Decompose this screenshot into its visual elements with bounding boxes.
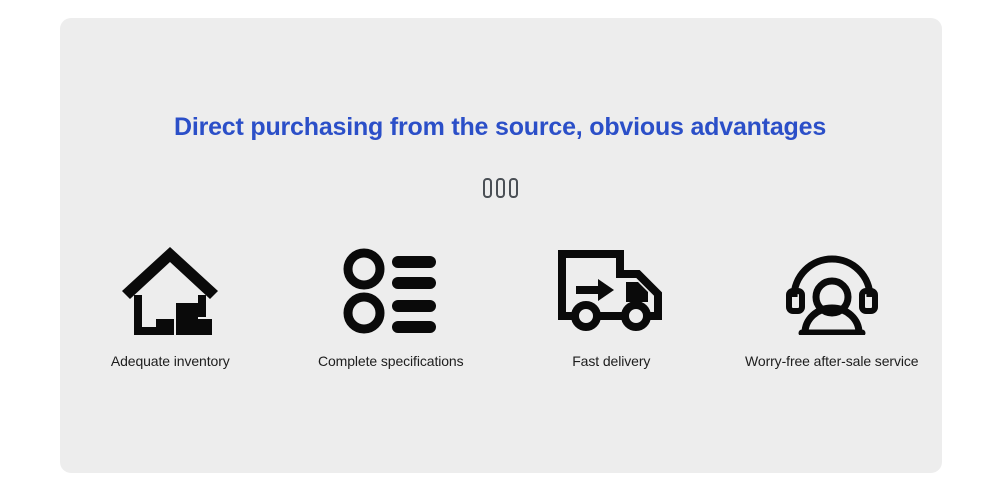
feature-item-delivery: Fast delivery [501,243,721,369]
page-title: Direct purchasing from the source, obvio… [0,113,1000,142]
feature-label: Complete specifications [318,353,464,369]
ornament-divider [0,178,1000,198]
ornament-pip-2 [496,178,505,198]
feature-label: Fast delivery [572,353,650,369]
ornament-pip-1 [483,178,492,198]
feature-item-inventory: Adequate inventory [60,243,280,369]
feature-label: Adequate inventory [111,353,230,369]
feature-item-support: Worry-free after-sale service [722,243,942,369]
specification-list-icon [343,243,439,339]
headset-support-agent-icon [784,243,880,339]
ornament-pip-3 [509,178,518,198]
delivery-truck-icon [558,243,664,339]
banner-stage: Direct purchasing from the source, obvio… [0,0,1000,498]
feature-list: Adequate inventory Complete specificatio… [60,243,942,369]
feature-label: Worry-free after-sale service [745,353,918,369]
feature-item-specifications: Complete specifications [281,243,501,369]
warehouse-inventory-icon [120,243,220,339]
